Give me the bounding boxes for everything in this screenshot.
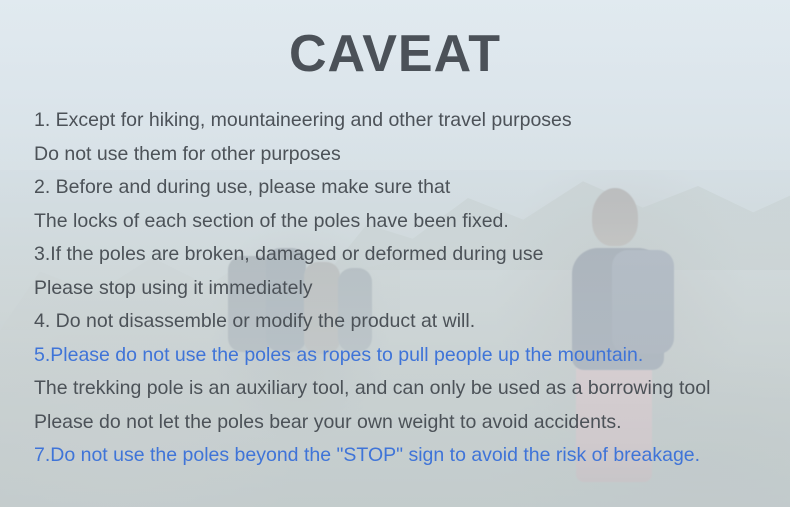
caveat-line: Please stop using it immediately bbox=[34, 272, 760, 306]
product-caveat-banner: CAVEAT 1. Except for hiking, mountaineer… bbox=[0, 0, 790, 507]
page-title: CAVEAT bbox=[0, 24, 790, 84]
caveat-content: CAVEAT 1. Except for hiking, mountaineer… bbox=[0, 0, 790, 507]
caveat-line: Do not use them for other purposes bbox=[34, 138, 760, 172]
caveat-line-highlighted: 7.Do not use the poles beyond the "STOP"… bbox=[34, 439, 760, 473]
caveat-line: Please do not let the poles bear your ow… bbox=[34, 406, 760, 440]
caveat-line-highlighted: 5.Please do not use the poles as ropes t… bbox=[34, 339, 760, 373]
caveat-list: 1. Except for hiking, mountaineering and… bbox=[34, 104, 760, 473]
caveat-line: 3.If the poles are broken, damaged or de… bbox=[34, 238, 760, 272]
caveat-line: 4. Do not disassemble or modify the prod… bbox=[34, 305, 760, 339]
caveat-line: The trekking pole is an auxiliary tool, … bbox=[34, 372, 760, 406]
caveat-line: 2. Before and during use, please make su… bbox=[34, 171, 760, 205]
caveat-line: 1. Except for hiking, mountaineering and… bbox=[34, 104, 760, 138]
caveat-line: The locks of each section of the poles h… bbox=[34, 205, 760, 239]
